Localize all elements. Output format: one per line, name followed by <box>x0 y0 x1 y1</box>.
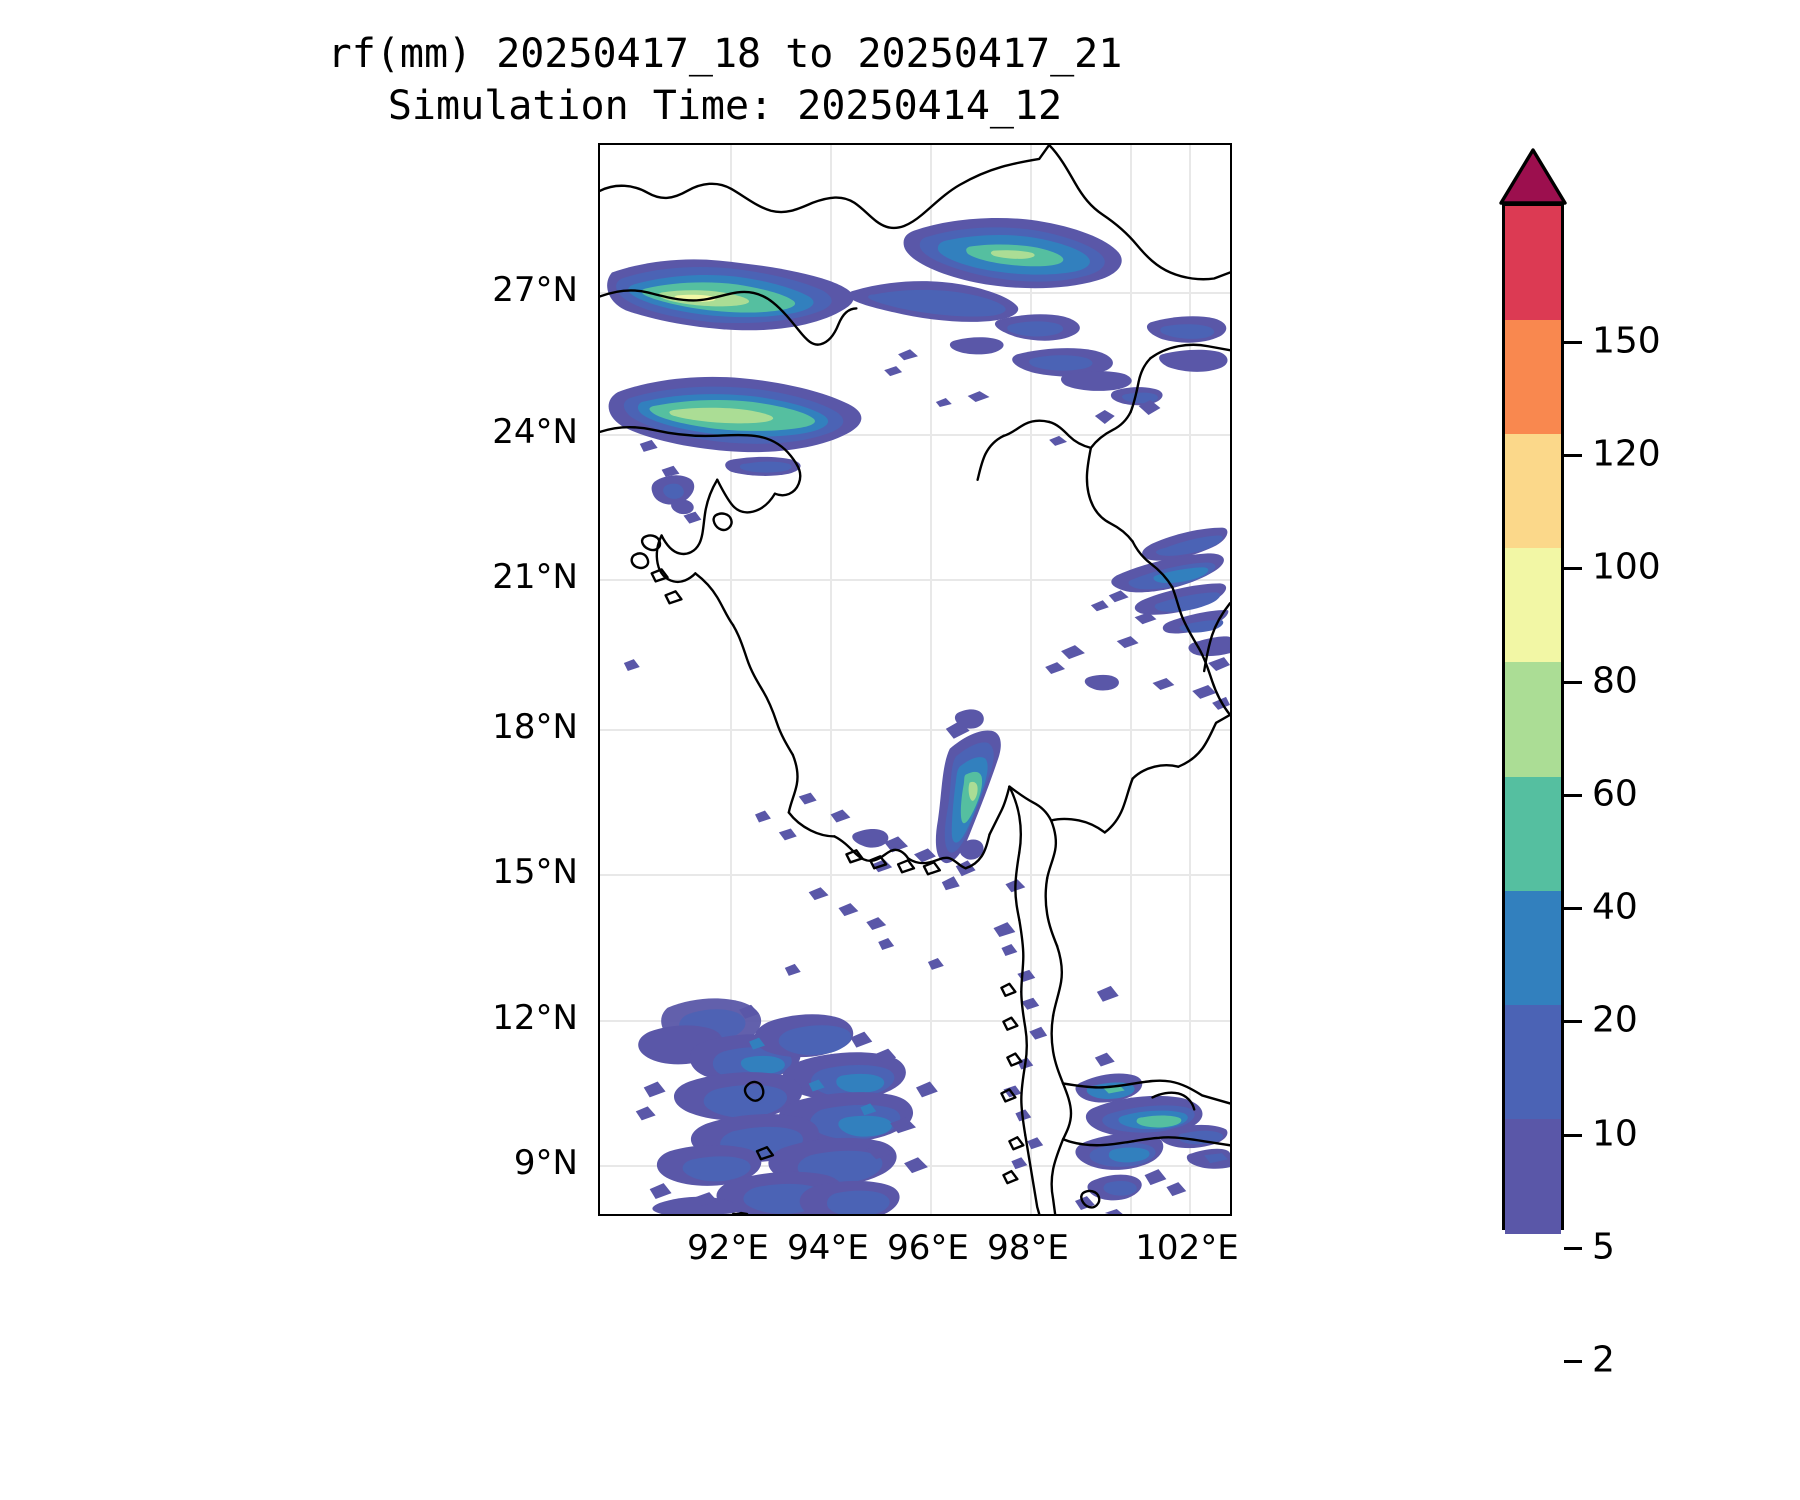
colorbar-tick-mark-7 <box>1564 1134 1582 1137</box>
ytick-label-2: 21°N <box>492 557 578 597</box>
colorbar-tick-label-0: 150 <box>1592 321 1661 362</box>
colorbar-tick-mark-6 <box>1564 1020 1582 1023</box>
chart-title: rf(mm) 20250417_18 to 20250417_21 Simula… <box>0 28 1450 132</box>
colorbar-extend-arrow <box>1499 147 1567 205</box>
ytick-label-5: 12°N <box>492 998 578 1038</box>
xtick-label-0: 92°E <box>687 1228 769 1268</box>
title-line-simulation-time: Simulation Time: 20250414_12 <box>0 80 1450 132</box>
colorbar-tick-mark-3 <box>1564 681 1582 684</box>
colorbar-segment-8 <box>1505 206 1561 321</box>
colorbar-tick-mark-8 <box>1564 1247 1582 1250</box>
colorbar-tick-label-3: 80 <box>1592 661 1638 702</box>
colorbar-tick-mark-4 <box>1564 794 1582 797</box>
colorbar-tick-label-2: 100 <box>1592 547 1661 588</box>
ytick-label-6: 9°N <box>514 1143 578 1183</box>
ytick-label-3: 18°N <box>492 707 578 747</box>
colorbar-segment-3 <box>1505 777 1561 892</box>
colorbar-segment-7 <box>1505 320 1561 435</box>
xtick-label-3: 98°E <box>987 1228 1069 1268</box>
colorbar-tick-mark-2 <box>1564 567 1582 570</box>
colorbar-segment-5 <box>1505 548 1561 663</box>
colorbar-tick-mark-0 <box>1564 341 1582 344</box>
colorbar-segment-6 <box>1505 434 1561 549</box>
colorbar-tick-label-4: 60 <box>1592 774 1638 815</box>
colorbar-tick-mark-1 <box>1564 454 1582 457</box>
ytick-label-0: 27°N <box>492 270 578 310</box>
xtick-label-2: 96°E <box>887 1228 969 1268</box>
colorbar-tick-label-8: 5 <box>1592 1227 1615 1268</box>
colorbar-tick-label-1: 120 <box>1592 434 1661 475</box>
colorbar-segment-1 <box>1505 1005 1561 1120</box>
ytick-label-4: 15°N <box>492 852 578 892</box>
rainfall-map <box>600 145 1230 1214</box>
colorbar-tick-label-7: 10 <box>1592 1114 1638 1155</box>
colorbar-tick-label-6: 20 <box>1592 1000 1638 1041</box>
colorbar-tick-label-5: 40 <box>1592 887 1638 928</box>
title-line-valid-period: rf(mm) 20250417_18 to 20250417_21 <box>0 28 1450 80</box>
ytick-label-1: 24°N <box>492 412 578 452</box>
colorbar-segment-2 <box>1505 891 1561 1006</box>
xtick-label-1: 94°E <box>787 1228 869 1268</box>
colorbar-gradient <box>1502 203 1564 1230</box>
colorbar[interactable]: 150120100806040201052 <box>1494 143 1794 1243</box>
colorbar-segment-0 <box>1505 1119 1561 1234</box>
colorbar-tick-label-9: 2 <box>1592 1340 1615 1381</box>
xtick-label-4: 102°E <box>1135 1228 1238 1268</box>
map-plot-area[interactable] <box>598 143 1232 1216</box>
colorbar-tick-mark-9 <box>1564 1360 1582 1363</box>
rainfall-contours <box>607 218 1230 1214</box>
colorbar-segment-4 <box>1505 662 1561 777</box>
colorbar-tick-mark-5 <box>1564 907 1582 910</box>
